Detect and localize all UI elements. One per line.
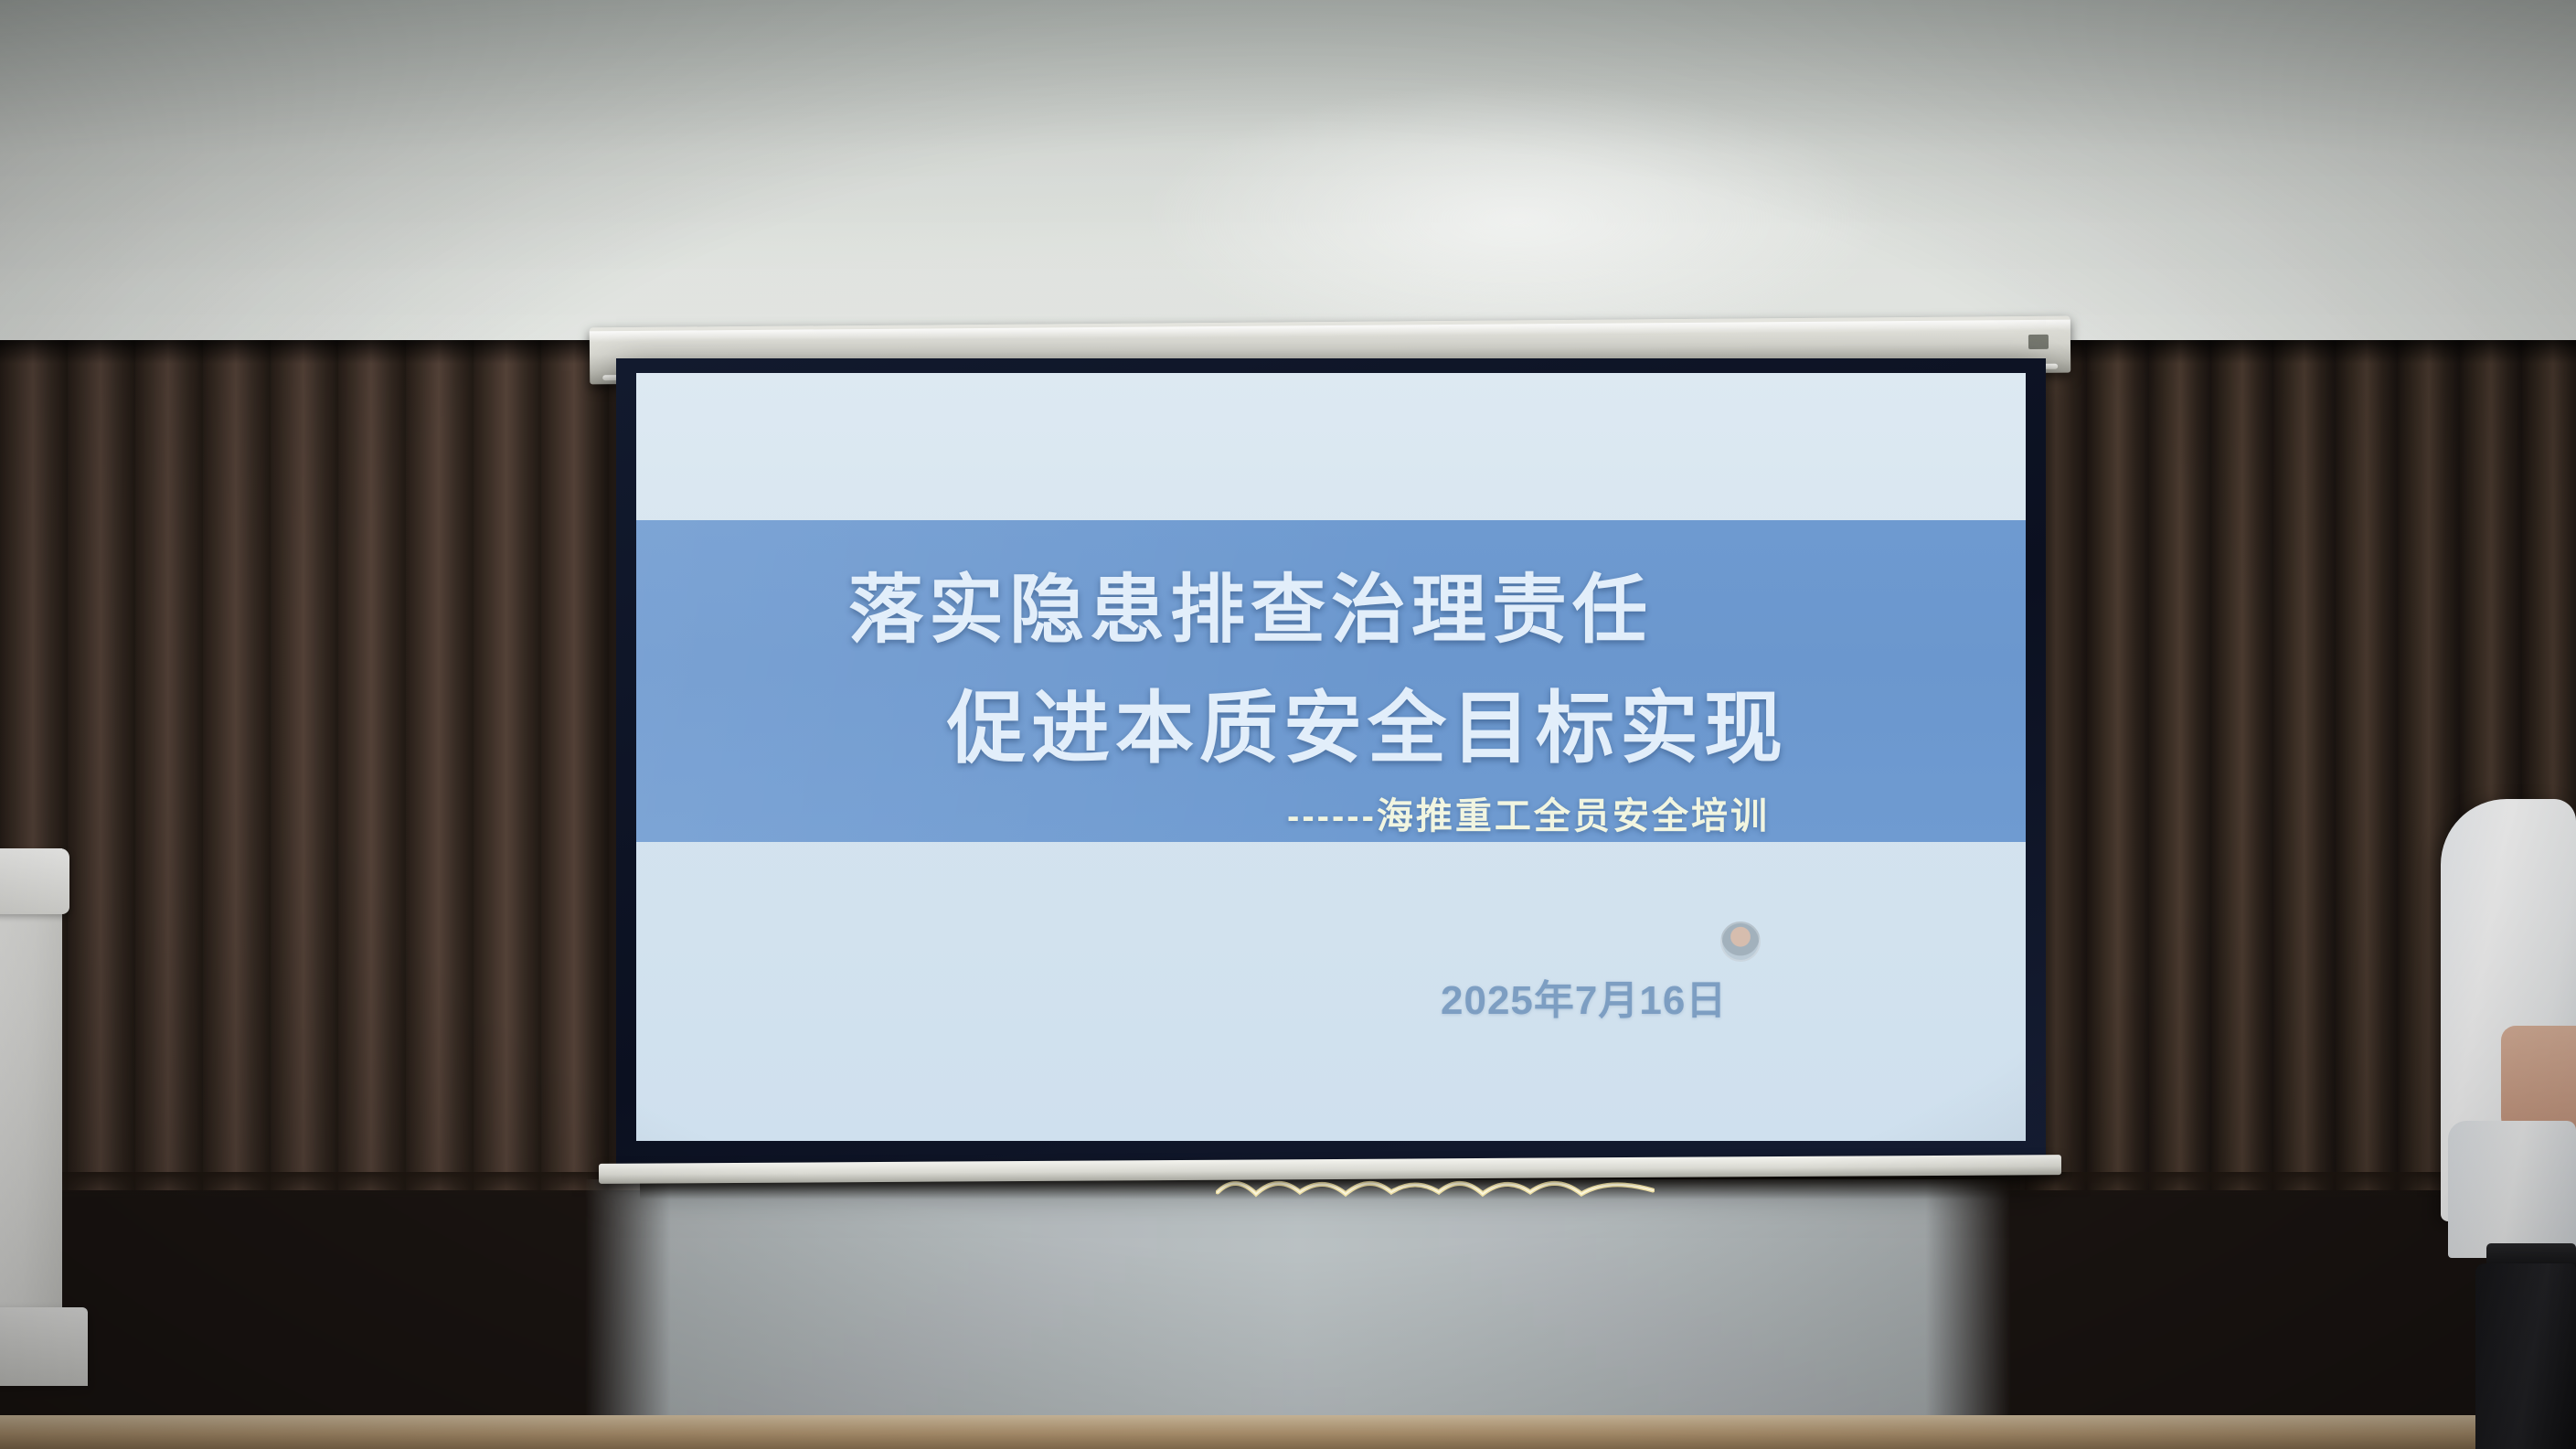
person-shirt-lower: [2448, 1121, 2576, 1258]
lectern-body: [0, 848, 62, 1360]
projector-light-spill: [585, 1179, 2011, 1449]
slide-date: 2025年7月16日: [1441, 967, 1727, 1026]
slide-subtitle-right: 安全培训: [1613, 786, 1770, 830]
projection-screen-frame: 落实隐患排查治理责任 促进本质安全目标实现 ------海推重工全员 安全培训 …: [616, 358, 2046, 1170]
room-scene: 落实隐患排查治理责任 促进本质安全目标实现 ------海推重工全员 安全培训 …: [0, 0, 2576, 1449]
housing-brand-label: [2028, 335, 2049, 349]
standing-person: [2421, 799, 2576, 1449]
ceiling-light-glow: [1143, 82, 1892, 357]
lectern-base: [0, 1307, 88, 1386]
slide-subtitle-left: ------海推重工全员: [1287, 786, 1613, 830]
presenter-avatar: [1720, 922, 1761, 962]
person-trousers: [2475, 1263, 2576, 1449]
stage-front-edge: [0, 1415, 2576, 1449]
projection-screen-surface: 落实隐患排查治理责任 促进本质安全目标实现 ------海推重工全员 安全培训 …: [636, 373, 2026, 1141]
slide-title-line-1: 落实隐患排查治理责任: [848, 549, 1653, 657]
stage-curtain-left: [0, 340, 640, 1190]
lectern-top: [0, 848, 69, 914]
slide-title-line-2: 促进本质安全目标实现: [947, 664, 1788, 778]
